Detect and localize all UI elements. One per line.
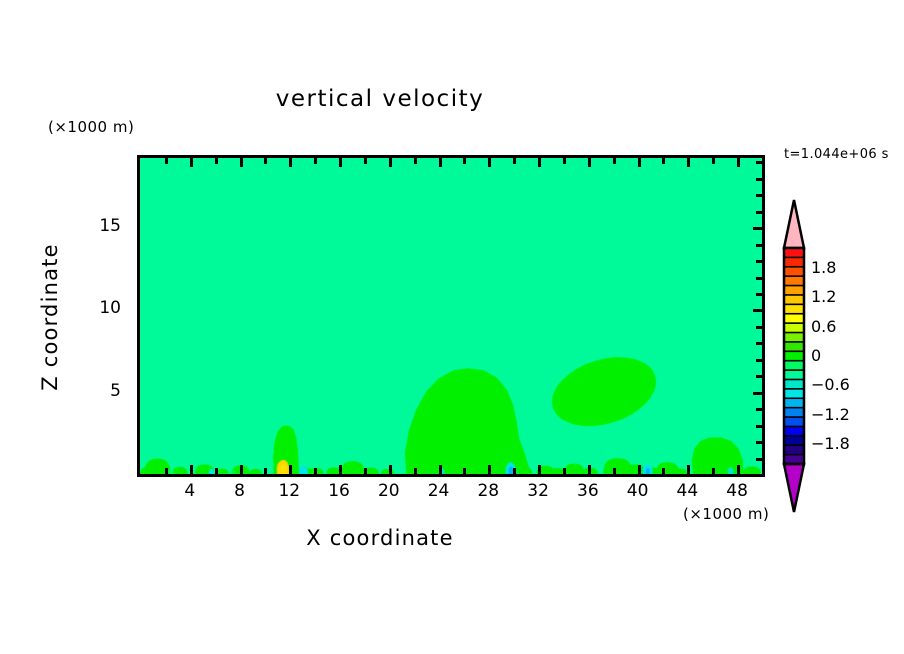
- x-tick-bottom-44: [687, 465, 690, 474]
- x-tick-top-42: [662, 158, 665, 164]
- x-tick-bottom-42: [662, 468, 665, 474]
- colorbar-segment: [784, 417, 804, 427]
- colorbar-segment: [784, 248, 804, 258]
- y-tick-left-14: [137, 244, 140, 247]
- y-tick-right-18: [756, 178, 762, 181]
- x-tick-bottom-10: [264, 468, 267, 474]
- y-tick-label: 5: [81, 381, 121, 401]
- y-tick-left-1: [137, 458, 140, 461]
- x-tick-bottom-22: [414, 468, 417, 474]
- x-tick-top-24: [439, 158, 442, 167]
- x-tick-bottom-6: [215, 468, 218, 474]
- x-tick-bottom-34: [563, 468, 566, 474]
- y-tick-right-4: [756, 408, 762, 411]
- colorbar-segment: [784, 426, 804, 436]
- x-tick-bottom-2: [165, 468, 168, 474]
- y-tick-left-13: [137, 260, 140, 263]
- x-tick-top-26: [463, 158, 466, 164]
- x-tick-top-14: [314, 158, 317, 164]
- y-tick-right-19: [756, 161, 762, 164]
- x-tick-label: 48: [707, 481, 767, 501]
- y-tick-left-18: [137, 178, 140, 181]
- colorbar-segment: [784, 333, 804, 343]
- x-axis-title: X coordinate: [0, 526, 760, 550]
- x-tick-top-40: [638, 158, 641, 167]
- contour-field: [140, 158, 762, 474]
- colorbar-segment: [784, 351, 804, 361]
- x-tick-bottom-14: [314, 468, 317, 474]
- colorbar-tick-label: −0.6: [811, 375, 850, 394]
- y-tick-left-15: [137, 227, 140, 230]
- x-tick-top-16: [339, 158, 342, 167]
- y-tick-left-11: [137, 293, 140, 296]
- x-tick-top-30: [513, 158, 516, 164]
- colorbar-segment: [784, 342, 804, 352]
- y-tick-right-10: [753, 309, 762, 312]
- x-tick-bottom-40: [638, 465, 641, 474]
- colorbar-segment: [784, 379, 804, 389]
- colorbar-tick-label: 1.2: [811, 287, 836, 306]
- colorbar-segment: [784, 389, 804, 399]
- colorbar-segment: [784, 361, 804, 371]
- x-tick-top-44: [687, 158, 690, 167]
- page-title: vertical velocity: [0, 86, 760, 112]
- colorbar-tick-label: 0.6: [811, 317, 836, 336]
- colorbar-segment: [784, 267, 804, 277]
- x-tick-top-32: [538, 158, 541, 167]
- x-tick-top-6: [215, 158, 218, 164]
- y-tick-left-2: [137, 441, 140, 444]
- x-tick-bottom-20: [389, 465, 392, 474]
- colorbar-under-arrow: [784, 464, 804, 512]
- colorbar-segment: [784, 323, 804, 333]
- y-tick-left-8: [137, 342, 140, 345]
- y-tick-right-11: [756, 293, 762, 296]
- y-tick-right-9: [756, 326, 762, 329]
- y-tick-right-3: [756, 425, 762, 428]
- y-tick-right-1: [756, 458, 762, 461]
- colorbar-tick-label: 0: [811, 346, 821, 365]
- y-tick-left-4: [137, 408, 140, 411]
- colorbar-segment: [784, 370, 804, 380]
- y-tick-left-3: [137, 425, 140, 428]
- z-axis-unit-label: (×1000 m): [48, 118, 134, 136]
- x-tick-top-38: [613, 158, 616, 164]
- x-tick-top-12: [289, 158, 292, 167]
- colorbar-segment: [784, 304, 804, 314]
- x-tick-bottom-12: [289, 465, 292, 474]
- y-tick-right-17: [756, 194, 762, 197]
- colorbar-swatches: [781, 196, 807, 516]
- x-tick-top-8: [240, 158, 243, 167]
- colorbar-segment: [784, 436, 804, 446]
- y-tick-right-13: [756, 260, 762, 263]
- y-axis-title: Z coordinate: [38, 207, 62, 427]
- x-tick-top-4: [190, 158, 193, 167]
- x-tick-bottom-8: [240, 465, 243, 474]
- y-tick-left-17: [137, 194, 140, 197]
- colorbar-segment: [784, 276, 804, 286]
- x-tick-top-46: [712, 158, 715, 164]
- y-tick-left-9: [137, 326, 140, 329]
- x-tick-bottom-38: [613, 468, 616, 474]
- colorbar-segment: [784, 286, 804, 296]
- colorbar-segment: [784, 314, 804, 324]
- colorbar-tick-label: 1.8: [811, 258, 836, 277]
- y-tick-right-15: [753, 227, 762, 230]
- x-tick-top-48: [737, 158, 740, 167]
- x-tick-top-2: [165, 158, 168, 164]
- colorbar[interactable]: [781, 196, 807, 516]
- y-tick-left-6: [137, 375, 140, 378]
- y-tick-right-6: [756, 375, 762, 378]
- time-stamp-label: t=1.044e+06 s: [784, 147, 889, 162]
- x-tick-bottom-48: [737, 465, 740, 474]
- x-tick-bottom-4: [190, 465, 193, 474]
- y-tick-right-14: [756, 244, 762, 247]
- colorbar-segment: [784, 257, 804, 267]
- y-tick-label: 15: [81, 216, 121, 236]
- figure-root: vertical velocity (×1000 m) (×1000 m) t=…: [0, 0, 904, 654]
- colorbar-tick-label: −1.2: [811, 405, 850, 424]
- colorbar-segment: [784, 445, 804, 455]
- x-tick-bottom-30: [513, 468, 516, 474]
- y-tick-right-16: [756, 211, 762, 214]
- x-tick-bottom-28: [488, 465, 491, 474]
- x-tick-top-18: [364, 158, 367, 164]
- x-tick-top-22: [414, 158, 417, 164]
- colorbar-segment: [784, 398, 804, 408]
- x-tick-top-28: [488, 158, 491, 167]
- x-tick-bottom-18: [364, 468, 367, 474]
- x-tick-top-36: [588, 158, 591, 167]
- x-tick-bottom-24: [439, 465, 442, 474]
- y-tick-label: 10: [81, 298, 121, 318]
- colorbar-segment: [784, 408, 804, 418]
- y-tick-left-5: [137, 392, 140, 395]
- x-tick-top-34: [563, 158, 566, 164]
- y-tick-right-12: [756, 277, 762, 280]
- x-tick-bottom-26: [463, 468, 466, 474]
- x-tick-bottom-46: [712, 468, 715, 474]
- y-tick-left-10: [137, 309, 140, 312]
- x-tick-bottom-32: [538, 465, 541, 474]
- x-tick-bottom-16: [339, 465, 342, 474]
- x-tick-top-10: [264, 158, 267, 164]
- x-tick-top-20: [389, 158, 392, 167]
- y-tick-right-8: [756, 342, 762, 345]
- y-tick-right-7: [756, 359, 762, 362]
- y-tick-left-7: [137, 359, 140, 362]
- y-tick-right-5: [753, 392, 762, 395]
- x-tick-bottom-36: [588, 465, 591, 474]
- colorbar-over-arrow: [784, 200, 804, 248]
- colorbar-tick-label: −1.8: [811, 434, 850, 453]
- y-tick-left-16: [137, 211, 140, 214]
- y-tick-right-2: [756, 441, 762, 444]
- colorbar-segment: [784, 295, 804, 305]
- y-tick-left-12: [137, 277, 140, 280]
- contour-plot-area[interactable]: [137, 155, 765, 477]
- y-tick-left-19: [137, 161, 140, 164]
- x-axis-unit-label: (×1000 m): [683, 505, 769, 523]
